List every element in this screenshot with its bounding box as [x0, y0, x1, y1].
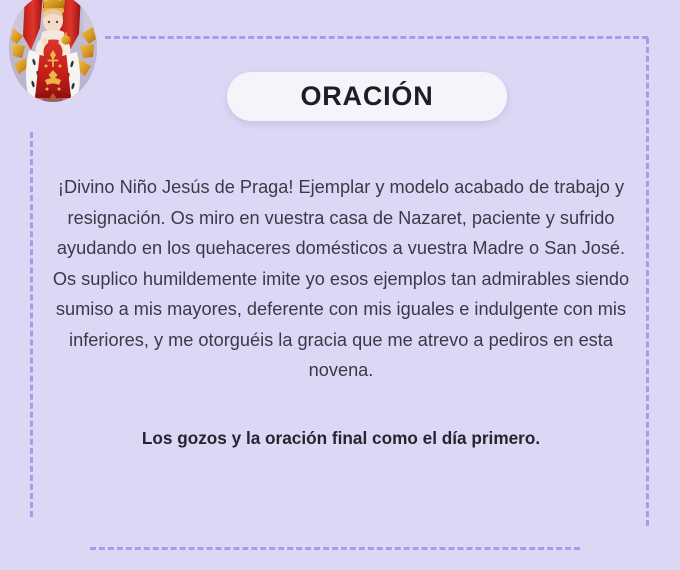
- prayer-body-text: ¡Divino Niño Jesús de Praga! Ejemplar y …: [52, 172, 630, 386]
- page-title: ORACIÓN: [300, 83, 433, 110]
- dashed-border-left: [30, 132, 33, 517]
- dashed-border-top: [105, 36, 648, 39]
- dashed-border-right: [646, 38, 649, 526]
- prayer-card: ORACIÓN ¡Divino Niño Jesús de Praga! Eje…: [0, 0, 680, 570]
- dashed-border-bottom: [90, 547, 580, 550]
- avatar: [9, 0, 97, 102]
- infant-jesus-of-prague-statue-icon: [9, 0, 97, 102]
- prayer-content: ¡Divino Niño Jesús de Praga! Ejemplar y …: [52, 172, 630, 451]
- page-title-pill: ORACIÓN: [227, 72, 507, 121]
- prayer-closing-text: Los gozos y la oración final como el día…: [52, 425, 630, 451]
